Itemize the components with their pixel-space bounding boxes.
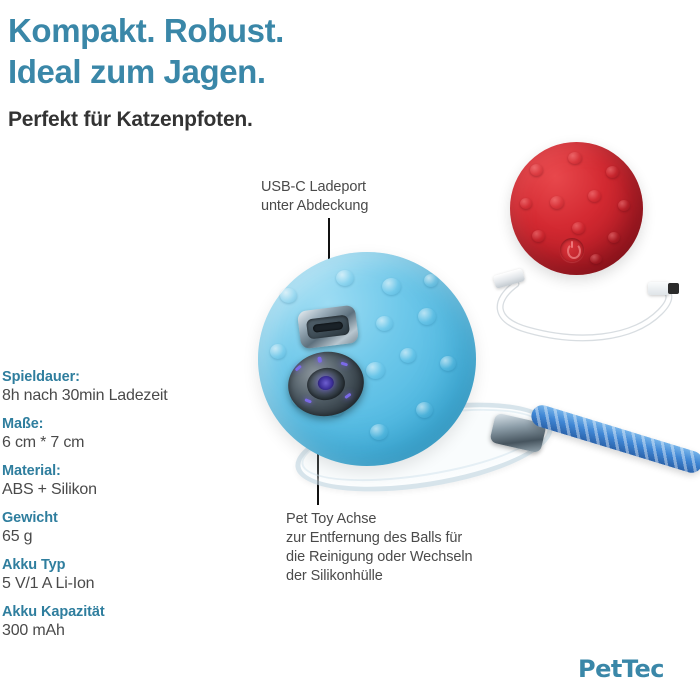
ball-bump: [370, 424, 388, 440]
callout-pet-toy-axle: Pet Toy Achse zur Entfernung des Balls f…: [286, 510, 546, 586]
subtitle: Perfekt für Katzenpfoten.: [8, 108, 253, 132]
spec-item-battery-capacity: Akku Kapazität 300 mAh: [2, 603, 237, 641]
blue-ball-product-photo: [258, 252, 483, 474]
led-accent: [295, 365, 302, 372]
callout-usb-c-port: USB-C Ladeport unter Abdeckung: [261, 178, 481, 216]
ball-bump: [376, 316, 393, 331]
ball-bump: [418, 308, 436, 325]
spec-item-playtime: Spieldauer: 8h nach 30min Ladezeit: [2, 368, 237, 406]
spec-label: Akku Kapazität: [2, 603, 237, 621]
headline-line-2: Ideal zum Jagen.: [8, 51, 648, 92]
led-accent: [344, 393, 351, 400]
ball-bump: [416, 402, 433, 418]
product-infographic: Kompakt. Robust. Ideal zum Jagen. Perfek…: [0, 0, 700, 700]
blue-silicone-ball: [258, 252, 476, 466]
spec-value: ABS + Silikon: [2, 480, 237, 500]
led-accent: [304, 398, 312, 403]
usb-c-connector-slot: [313, 321, 344, 333]
specifications-list: Spieldauer: 8h nach 30min Ladezeit Maße:…: [2, 368, 237, 650]
led-accent: [317, 356, 322, 363]
usb-c-plug-tip: [668, 283, 679, 294]
led-accent: [341, 362, 349, 367]
headline-line-1: Kompakt. Robust.: [8, 10, 648, 51]
callout-axle-line-4: der Silikonhülle: [286, 567, 546, 586]
ball-bump: [572, 222, 585, 234]
callout-axle-line-2: zur Entfernung des Balls für: [286, 529, 546, 548]
spec-item-battery-type: Akku Typ 5 V/1 A Li-Ion: [2, 556, 237, 594]
usb-c-port-recess: [306, 315, 350, 340]
spec-label: Maße:: [2, 415, 237, 433]
usb-c-plug: [648, 282, 670, 295]
spec-value: 65 g: [2, 527, 237, 547]
pettec-logo: PetTec: [578, 655, 664, 683]
ball-bump: [618, 200, 630, 211]
blue-braided-rope: [529, 402, 700, 475]
spec-item-material: Material: ABS + Silikon: [2, 462, 237, 500]
ball-bump: [550, 196, 564, 209]
spec-value: 6 cm * 7 cm: [2, 433, 237, 453]
ball-bump: [280, 288, 297, 303]
spec-item-weight: Gewicht 65 g: [2, 509, 237, 547]
spec-value: 5 V/1 A Li-Ion: [2, 574, 237, 594]
spec-item-dimensions: Maße: 6 cm * 7 cm: [2, 415, 237, 453]
ball-bump: [424, 274, 438, 287]
ball-bump: [608, 232, 620, 243]
ball-bump: [588, 190, 601, 202]
spec-value: 300 mAh: [2, 621, 237, 641]
red-silicone-ball: [510, 142, 643, 275]
spec-label: Material:: [2, 462, 237, 480]
ball-bump: [606, 166, 619, 178]
ball-bump: [336, 270, 354, 286]
ball-bump: [440, 356, 456, 371]
spec-label: Gewicht: [2, 509, 237, 527]
power-icon: [567, 243, 581, 259]
ball-bump: [366, 362, 385, 379]
callout-usb-line-1: USB-C Ladeport: [261, 178, 481, 197]
callout-usb-line-2: unter Abdeckung: [261, 197, 481, 216]
power-icon-stem: [571, 241, 573, 248]
callout-axle-line-1: Pet Toy Achse: [286, 510, 546, 529]
ball-bump: [590, 254, 602, 264]
pet-toy-axle-mechanism: [283, 346, 369, 422]
ball-bump: [530, 164, 543, 176]
spec-value: 8h nach 30min Ladezeit: [2, 386, 237, 406]
power-button[interactable]: [560, 238, 584, 262]
headline-block: Kompakt. Robust. Ideal zum Jagen.: [8, 10, 648, 92]
callout-axle-line-3: die Reinigung oder Wechseln: [286, 548, 546, 567]
ball-bump: [382, 278, 401, 295]
spec-label: Akku Typ: [2, 556, 237, 574]
ball-bump: [520, 198, 532, 209]
ball-bump: [532, 230, 545, 242]
usb-c-port-cover: [297, 305, 359, 350]
ball-bump: [568, 152, 582, 164]
spec-label: Spieldauer:: [2, 368, 237, 386]
ball-bump: [400, 348, 416, 363]
ball-bump: [270, 344, 286, 359]
